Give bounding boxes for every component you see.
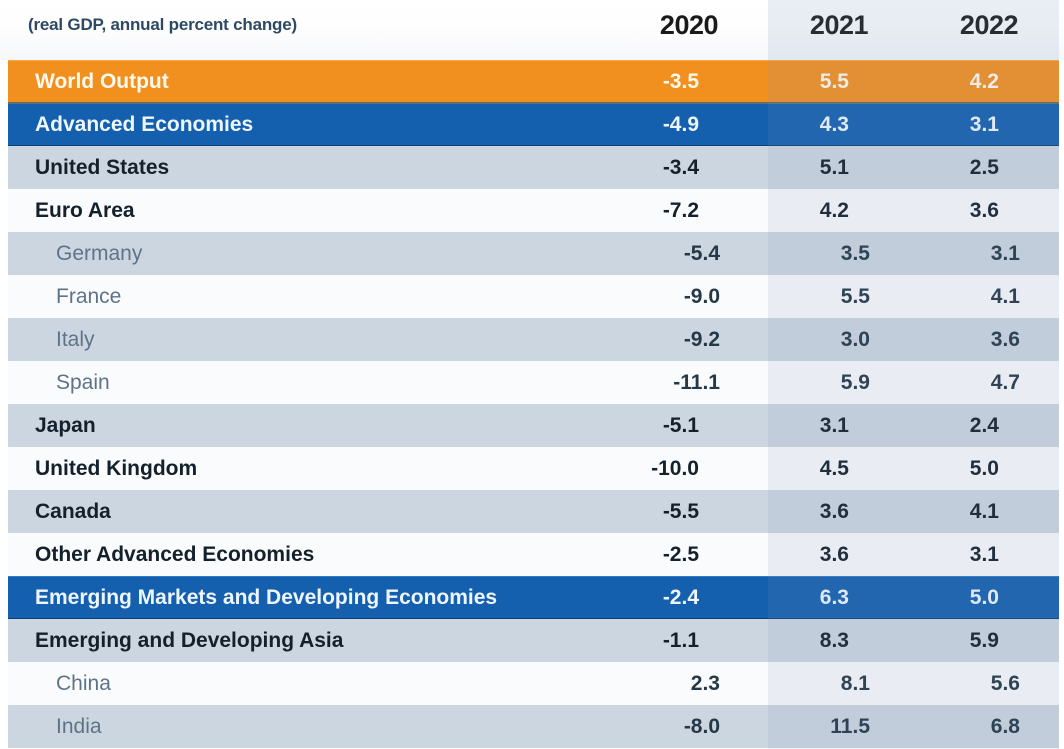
row-label: Euro Area [8,199,595,223]
row-value-2020: -10.0 [595,457,745,481]
row-label: United States [8,156,595,180]
row-label: France [8,285,616,309]
table-row: Canada-5.53.64.1 [8,490,1059,533]
table-row: Japan-5.13.12.4 [8,404,1059,447]
table-row: Spain-11.15.94.7 [8,361,1059,404]
table-header-row: (real GDP, annual percent change) 2020 2… [0,0,1064,60]
row-value-2021: 3.5 [766,242,916,266]
table-row: World Output-3.55.54.2 [8,60,1059,103]
table-row: Advanced Economies-4.94.33.1 [8,103,1059,146]
table-body: World Output-3.55.54.2Advanced Economies… [0,60,1064,748]
column-header-2021: 2021 [718,10,868,41]
gdp-projection-table: (real GDP, annual percent change) 2020 2… [0,0,1064,749]
row-label: Italy [8,328,616,352]
row-value-2022: 4.2 [895,70,1045,94]
row-value-2022: 4.7 [916,371,1064,395]
row-value-2020: -5.4 [616,242,766,266]
row-value-2022: 4.1 [916,285,1064,309]
row-value-2021: 4.2 [745,199,895,223]
row-value-2021: 8.1 [766,672,916,696]
table-row: India-8.011.56.8 [8,705,1059,748]
row-value-2022: 3.1 [916,242,1064,266]
row-label: Spain [8,371,616,395]
row-value-2020: -4.9 [595,113,745,137]
row-value-2020: -3.4 [595,156,745,180]
table-row: Italy-9.23.03.6 [8,318,1059,361]
row-label: Emerging Markets and Developing Economie… [8,586,595,610]
table-row: Euro Area-7.24.23.6 [8,189,1059,232]
row-value-2020: -9.0 [616,285,766,309]
row-value-2021: 5.9 [766,371,916,395]
row-value-2021: 8.3 [745,629,895,653]
row-value-2021: 4.3 [745,113,895,137]
row-label: Advanced Economies [8,113,595,137]
column-header-2022: 2022 [868,10,1018,41]
table-row: Emerging and Developing Asia-1.18.35.9 [8,619,1059,662]
column-header-2020: 2020 [568,10,718,41]
row-label: United Kingdom [8,457,595,481]
row-value-2022: 2.5 [895,156,1045,180]
row-value-2020: -5.5 [595,500,745,524]
row-value-2021: 5.1 [745,156,895,180]
row-value-2022: 2.4 [895,414,1045,438]
row-value-2022: 5.9 [895,629,1045,653]
row-value-2022: 5.6 [916,672,1064,696]
row-label: World Output [8,70,595,94]
row-value-2020: -2.4 [595,586,745,610]
row-value-2021: 5.5 [766,285,916,309]
row-value-2020: 2.3 [616,672,766,696]
row-label: Japan [8,414,595,438]
row-value-2021: 4.5 [745,457,895,481]
table-row: Other Advanced Economies-2.53.63.1 [8,533,1059,576]
row-label: Other Advanced Economies [8,543,595,567]
row-value-2021: 3.1 [745,414,895,438]
row-value-2021: 6.3 [745,586,895,610]
row-value-2020: -3.5 [595,70,745,94]
row-value-2020: -8.0 [616,715,766,739]
row-value-2020: -2.5 [595,543,745,567]
row-value-2021: 11.5 [766,715,916,739]
row-value-2022: 3.6 [895,199,1045,223]
table-row: United Kingdom-10.04.55.0 [8,447,1059,490]
row-value-2022: 5.0 [895,457,1045,481]
row-label: India [8,715,616,739]
row-value-2021: 3.6 [745,543,895,567]
table-row: Germany-5.43.53.1 [8,232,1059,275]
row-value-2022: 3.1 [895,113,1045,137]
table-row: China2.38.15.6 [8,662,1059,705]
row-value-2020: -11.1 [616,371,766,395]
table-row: France-9.05.54.1 [8,275,1059,318]
row-label: Canada [8,500,595,524]
row-value-2022: 3.1 [895,543,1045,567]
row-value-2021: 3.0 [766,328,916,352]
row-value-2020: -1.1 [595,629,745,653]
row-value-2020: -7.2 [595,199,745,223]
row-value-2020: -5.1 [595,414,745,438]
table-caption: (real GDP, annual percent change) [28,15,297,35]
row-value-2022: 4.1 [895,500,1045,524]
row-label: China [8,672,616,696]
row-value-2022: 3.6 [916,328,1064,352]
row-label: Germany [8,242,616,266]
table-row: United States-3.45.12.5 [8,146,1059,189]
table-row: Emerging Markets and Developing Economie… [8,576,1059,619]
row-value-2020: -9.2 [616,328,766,352]
row-value-2021: 3.6 [745,500,895,524]
row-label: Emerging and Developing Asia [8,629,595,653]
row-value-2022: 6.8 [916,715,1064,739]
row-value-2022: 5.0 [895,586,1045,610]
row-value-2021: 5.5 [745,70,895,94]
